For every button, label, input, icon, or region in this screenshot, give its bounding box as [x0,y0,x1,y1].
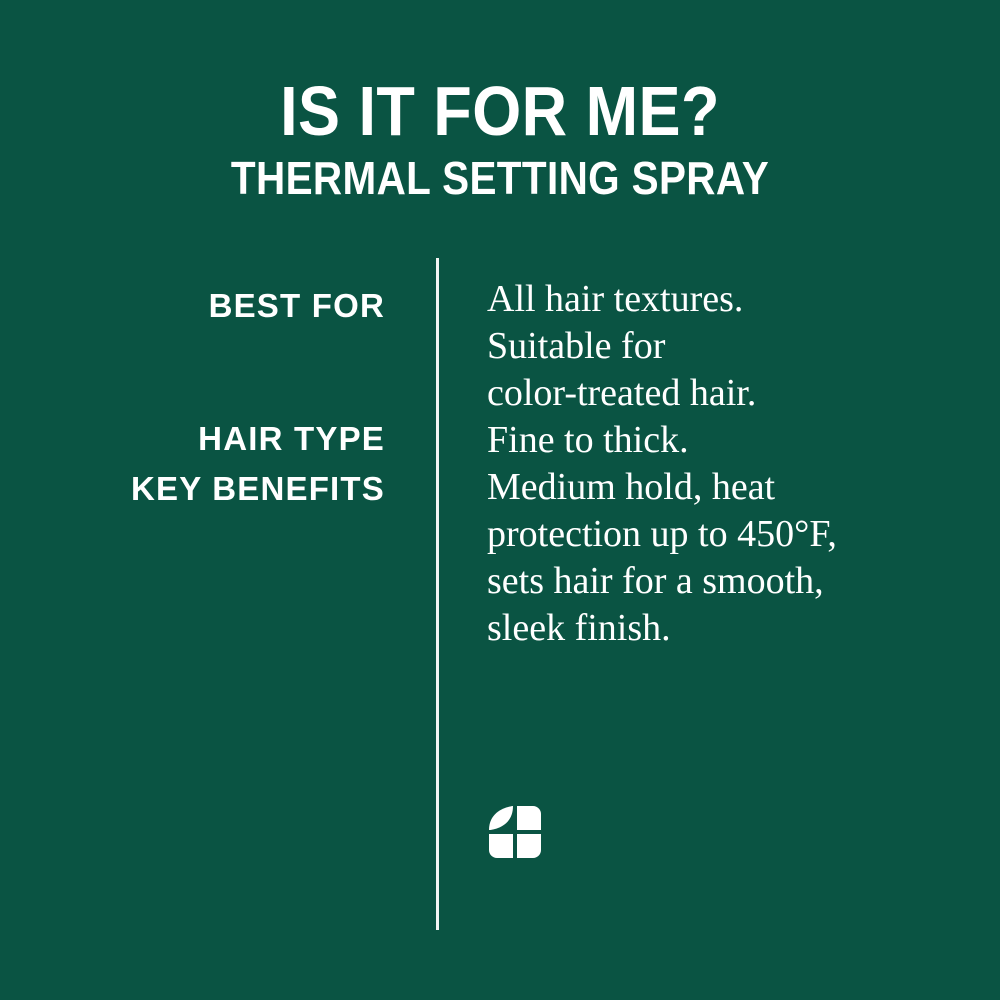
spec-label-best-for: BEST FOR [209,286,385,326]
spec-row-key-benefits: KEY BENEFITS Medium hold, heat protectio… [0,464,1000,652]
spec-label-cell: BEST FOR [0,276,385,326]
spec-value-hair-type: Fine to thick. [487,417,1000,464]
spec-label-hair-type: HAIR TYPE [198,419,385,459]
product-info-card: IS IT FOR ME? THERMAL SETTING SPRAY BEST… [0,0,1000,1000]
header: IS IT FOR ME? THERMAL SETTING SPRAY [0,74,1000,204]
leaf-quadrant-icon [487,804,543,861]
spec-label-cell: HAIR TYPE [0,417,385,459]
spec-value-cell: Medium hold, heat protection up to 450°F… [385,464,1000,652]
brand-logo [487,804,543,861]
spec-label-cell: KEY BENEFITS [0,464,385,509]
spec-list: BEST FOR All hair textures. Suitable for… [0,276,1000,652]
spec-value-best-for: All hair textures. Suitable for color-tr… [487,276,1000,417]
spec-row-best-for: BEST FOR All hair textures. Suitable for… [0,276,1000,417]
spec-value-cell: All hair textures. Suitable for color-tr… [385,276,1000,417]
spec-value-key-benefits: Medium hold, heat protection up to 450°F… [487,464,1000,652]
spec-row-hair-type: HAIR TYPE Fine to thick. [0,417,1000,464]
spec-value-cell: Fine to thick. [385,417,1000,464]
page-title: IS IT FOR ME? [50,74,950,148]
spec-label-key-benefits: KEY BENEFITS [131,469,385,509]
page-subtitle: THERMAL SETTING SPRAY [60,152,940,204]
